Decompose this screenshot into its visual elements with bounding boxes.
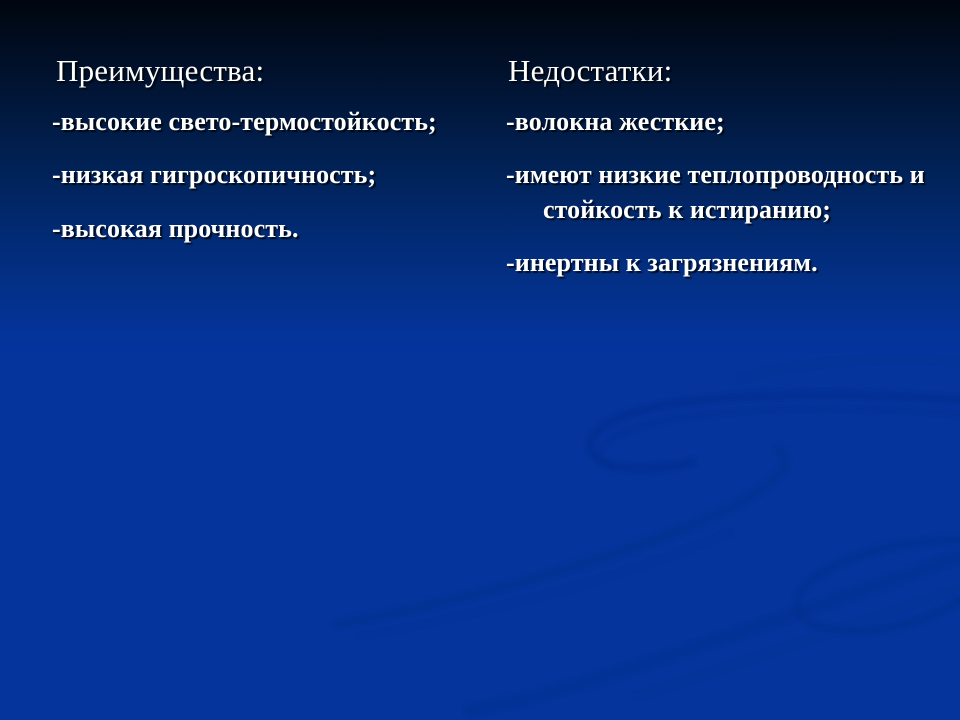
advantages-heading: Преимущества: (56, 0, 482, 86)
disadvantages-heading: Недостатки: (508, 0, 946, 86)
advantages-bullet-2: -низкая гигроскопичность; (52, 158, 482, 192)
column-advantages: Преимущества: -высокие свето-термостойко… (52, 0, 482, 246)
advantages-bullet-1: -высокие свето-термостойкость; (52, 105, 482, 139)
column-disadvantages: Недостатки: -волокна жесткие; -имеют низ… (506, 0, 946, 280)
presentation-slide: Преимущества: -высокие свето-термостойко… (0, 0, 960, 720)
advantages-bullet-3: -высокая прочность. (52, 212, 482, 246)
disadvantages-bullet-3: -инертны к загрязнениям. (506, 246, 946, 280)
disadvantages-bullet-1: -волокна жесткие; (506, 105, 946, 139)
disadvantages-bullet-2: -имеют низкие теплопроводность и стойкос… (506, 158, 946, 227)
